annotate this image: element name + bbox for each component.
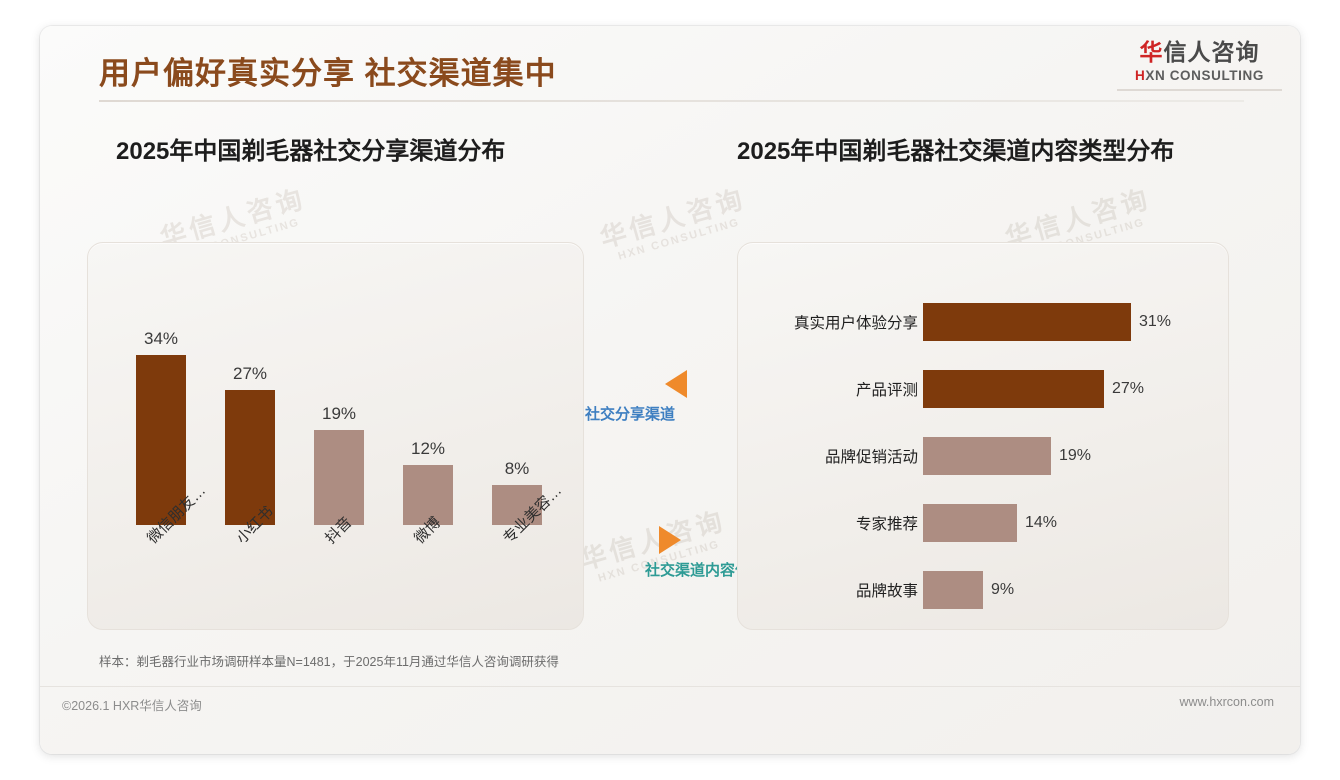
bar-value-label: 19% (1059, 447, 1091, 465)
watermark-line2: HXN CONSULTING (605, 213, 753, 267)
bar-value-label: 34% (144, 329, 178, 349)
bar (923, 437, 1051, 475)
triangle-left-icon (665, 370, 687, 398)
bar-value-label: 31% (1139, 313, 1171, 331)
bar-category-label: 品牌促销活动 (825, 445, 918, 467)
bar-value-label: 14% (1025, 514, 1057, 532)
slide-canvas: 用户偏好真实分享 社交渠道集中 华信人咨询 HXN CONSULTING 华信人… (0, 0, 1340, 780)
bar-row: 品牌故事9% (738, 571, 1228, 609)
brand-logo: 华信人咨询 HXN CONSULTING (1117, 40, 1282, 91)
bar-row: 专家推荐14% (738, 504, 1228, 542)
bar (923, 303, 1131, 341)
chart-title-left: 2025年中国剃毛器社交分享渠道分布 (116, 131, 505, 166)
bar-value-label: 12% (411, 439, 445, 459)
slide-header: 用户偏好真实分享 社交渠道集中 华信人咨询 HXN CONSULTING (40, 26, 1300, 108)
bar (225, 390, 275, 525)
chart-card-right: 真实用户体验分享31%产品评测27%品牌促销活动19%专家推荐14%品牌故事9% (737, 242, 1229, 630)
bar (923, 504, 1017, 542)
bar-row: 产品评测27% (738, 370, 1228, 408)
bar-value-label: 8% (505, 459, 530, 479)
bar-column: 8%专业美容… (492, 485, 542, 525)
chart-card-left: 34%微信朋友…27%小红书19%抖音12%微博8%专业美容… (87, 242, 584, 630)
bar-category-label: 产品评测 (856, 378, 918, 400)
copyright-text: ©2026.1 HXR华信人咨询 (62, 695, 202, 714)
footer-divider (40, 686, 1300, 687)
bar (923, 571, 983, 609)
bar (923, 370, 1104, 408)
horizontal-bar-chart: 真实用户体验分享31%产品评测27%品牌促销活动19%专家推荐14%品牌故事9% (738, 243, 1228, 629)
website-url: www.hxrcon.com (1180, 695, 1274, 709)
bar (314, 430, 364, 525)
chart-title-right: 2025年中国剃毛器社交渠道内容类型分布 (737, 131, 1174, 166)
bar-value-label: 19% (322, 404, 356, 424)
header-divider (99, 100, 1244, 102)
bar-column: 34%微信朋友… (136, 355, 186, 525)
vertical-bar-chart: 34%微信朋友…27%小红书19%抖音12%微博8%专业美容… (88, 243, 583, 629)
watermark: 华信人咨询 HXN CONSULTING (597, 184, 753, 266)
bar-category-label: 品牌故事 (856, 579, 918, 601)
logo-english: HXN CONSULTING (1117, 68, 1282, 83)
bar-row: 品牌促销活动19% (738, 437, 1228, 475)
bar-row: 真实用户体验分享31% (738, 303, 1228, 341)
annotation-label: 社交分享渠道 (585, 403, 675, 424)
bar-column: 12%微博 (403, 465, 453, 525)
logo-english-rest: XN CONSULTING (1145, 68, 1264, 83)
bar-column: 27%小红书 (225, 390, 275, 525)
triangle-right-icon (659, 526, 681, 554)
logo-underline (1117, 89, 1282, 91)
bar-value-label: 9% (991, 581, 1014, 599)
watermark-line1: 华信人咨询 (597, 184, 749, 254)
page-title: 用户偏好真实分享 社交渠道集中 (99, 48, 557, 93)
bar-category-label: 真实用户体验分享 (794, 311, 918, 333)
sample-footnote: 样本：剃毛器行业市场调研样本量N=1481，于2025年11月通过华信人咨询调研… (99, 651, 559, 670)
bar-value-label: 27% (1112, 380, 1144, 398)
logo-english-accent: H (1135, 68, 1145, 83)
bar-value-label: 27% (233, 364, 267, 384)
logo-chinese: 华信人咨询 (1117, 40, 1282, 65)
logo-chinese-accent: 华 (1140, 39, 1164, 65)
logo-chinese-rest: 信人咨询 (1164, 39, 1260, 65)
slide: 用户偏好真实分享 社交渠道集中 华信人咨询 HXN CONSULTING 华信人… (40, 26, 1300, 754)
bar-category-label: 专家推荐 (856, 512, 918, 534)
bar-column: 19%抖音 (314, 430, 364, 525)
